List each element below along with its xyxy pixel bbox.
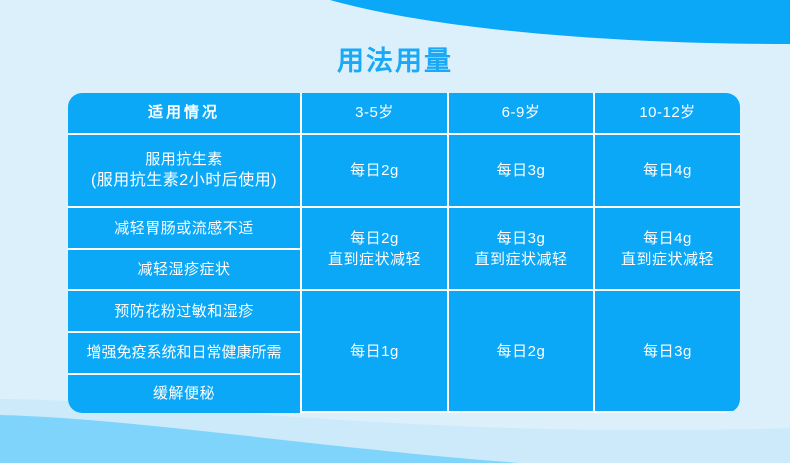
header-age-3-5: 3-5岁 [302,93,449,135]
dose-daily-3-5: 每日1g [302,291,449,413]
dose-symptoms-3-5-line1: 每日2g [306,228,443,249]
condition-antibiotics: 服用抗生素 (服用抗生素2小时后使用) [68,135,302,209]
condition-immune-support: 增强免疫系统和日常健康所需 [68,333,302,375]
dose-symptoms-3-5: 每日2g 直到症状减轻 [302,208,449,291]
dosage-table: 适用情况 3-5岁 6-9岁 10-12岁 服用抗生素 (服用抗生素2小时后使用… [68,93,740,413]
dose-symptoms-6-9-line2: 直到症状减轻 [453,249,589,270]
header-age-6-9: 6-9岁 [449,93,595,135]
dose-antibiotics-10-12: 每日4g [595,135,740,209]
table-row: 服用抗生素 (服用抗生素2小时后使用) 每日2g 每日3g 每日4g [68,135,740,209]
table-row: 减轻胃肠或流感不适 每日2g 直到症状减轻 每日3g 直到症状减轻 [68,208,740,250]
condition-pollen-allergy: 预防花粉过敏和湿疹 [68,291,302,333]
dosage-infographic: 用法用量 适用情况 3-5岁 6-9岁 10-12岁 服用抗生素 (服用抗 [0,0,790,463]
dose-symptoms-10-12: 每日4g 直到症状减轻 [595,208,740,291]
dose-symptoms-10-12-line1: 每日4g [599,228,736,249]
condition-eczema-symptoms: 减轻湿疹症状 [68,250,302,292]
page-title: 用法用量 [0,44,790,78]
dose-symptoms-10-12-line2: 直到症状减轻 [599,249,736,270]
condition-stomach-flu: 减轻胃肠或流感不适 [68,208,302,250]
header-condition: 适用情况 [68,93,302,135]
dose-daily-6-9: 每日2g [449,291,595,413]
header-age-10-12: 10-12岁 [595,93,740,135]
table-row: 预防花粉过敏和湿疹 每日1g 每日2g 每日3g [68,291,740,333]
table-header-row: 适用情况 3-5岁 6-9岁 10-12岁 [68,93,740,135]
dose-symptoms-6-9-line1: 每日3g [453,228,589,249]
dose-symptoms-6-9: 每日3g 直到症状减轻 [449,208,595,291]
dose-antibiotics-3-5: 每日2g [302,135,449,209]
dose-antibiotics-6-9: 每日3g [449,135,595,209]
condition-antibiotics-main: 服用抗生素 [145,151,223,168]
dose-daily-10-12: 每日3g [595,291,740,413]
condition-constipation: 缓解便秘 [68,375,302,414]
dosage-table-wrapper: 适用情况 3-5岁 6-9岁 10-12岁 服用抗生素 (服用抗生素2小时后使用… [68,93,740,413]
condition-antibiotics-sub: (服用抗生素2小时后使用) [72,170,296,191]
dose-symptoms-3-5-line2: 直到症状减轻 [306,249,443,270]
